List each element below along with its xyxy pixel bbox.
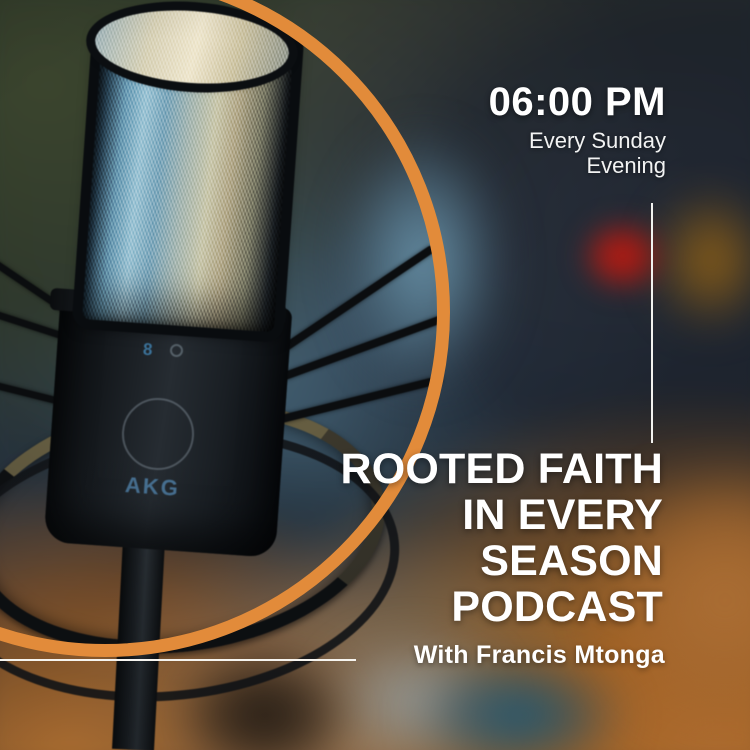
schedule-block: 06:00 PM Every Sunday Evening	[246, 82, 666, 178]
vertical-divider	[651, 203, 653, 443]
broadcast-frequency: Every Sunday Evening	[246, 129, 666, 178]
podcast-cover-poster: + 8 AKG 06:00 PM Every Sunday E	[0, 0, 750, 750]
microphone-marking-number: 8	[142, 340, 153, 361]
show-title-line-2: IN EVERY	[103, 492, 663, 538]
show-title: ROOTED FAITH IN EVERY SEASON PODCAST	[103, 446, 663, 630]
broadcast-time: 06:00 PM	[246, 82, 666, 122]
suspension-band	[265, 245, 435, 363]
horizontal-divider	[0, 659, 356, 661]
show-title-line-4: PODCAST	[103, 584, 663, 630]
host-credit: With Francis Mtonga	[414, 641, 665, 670]
show-title-line-3: SEASON	[103, 538, 663, 584]
show-title-line-1: ROOTED FAITH	[103, 446, 663, 492]
broadcast-frequency-line2: Evening	[246, 154, 666, 179]
bokeh-light-red	[568, 208, 678, 304]
microphone-omni-mark	[170, 344, 183, 357]
broadcast-frequency-line1: Every Sunday	[246, 129, 666, 154]
